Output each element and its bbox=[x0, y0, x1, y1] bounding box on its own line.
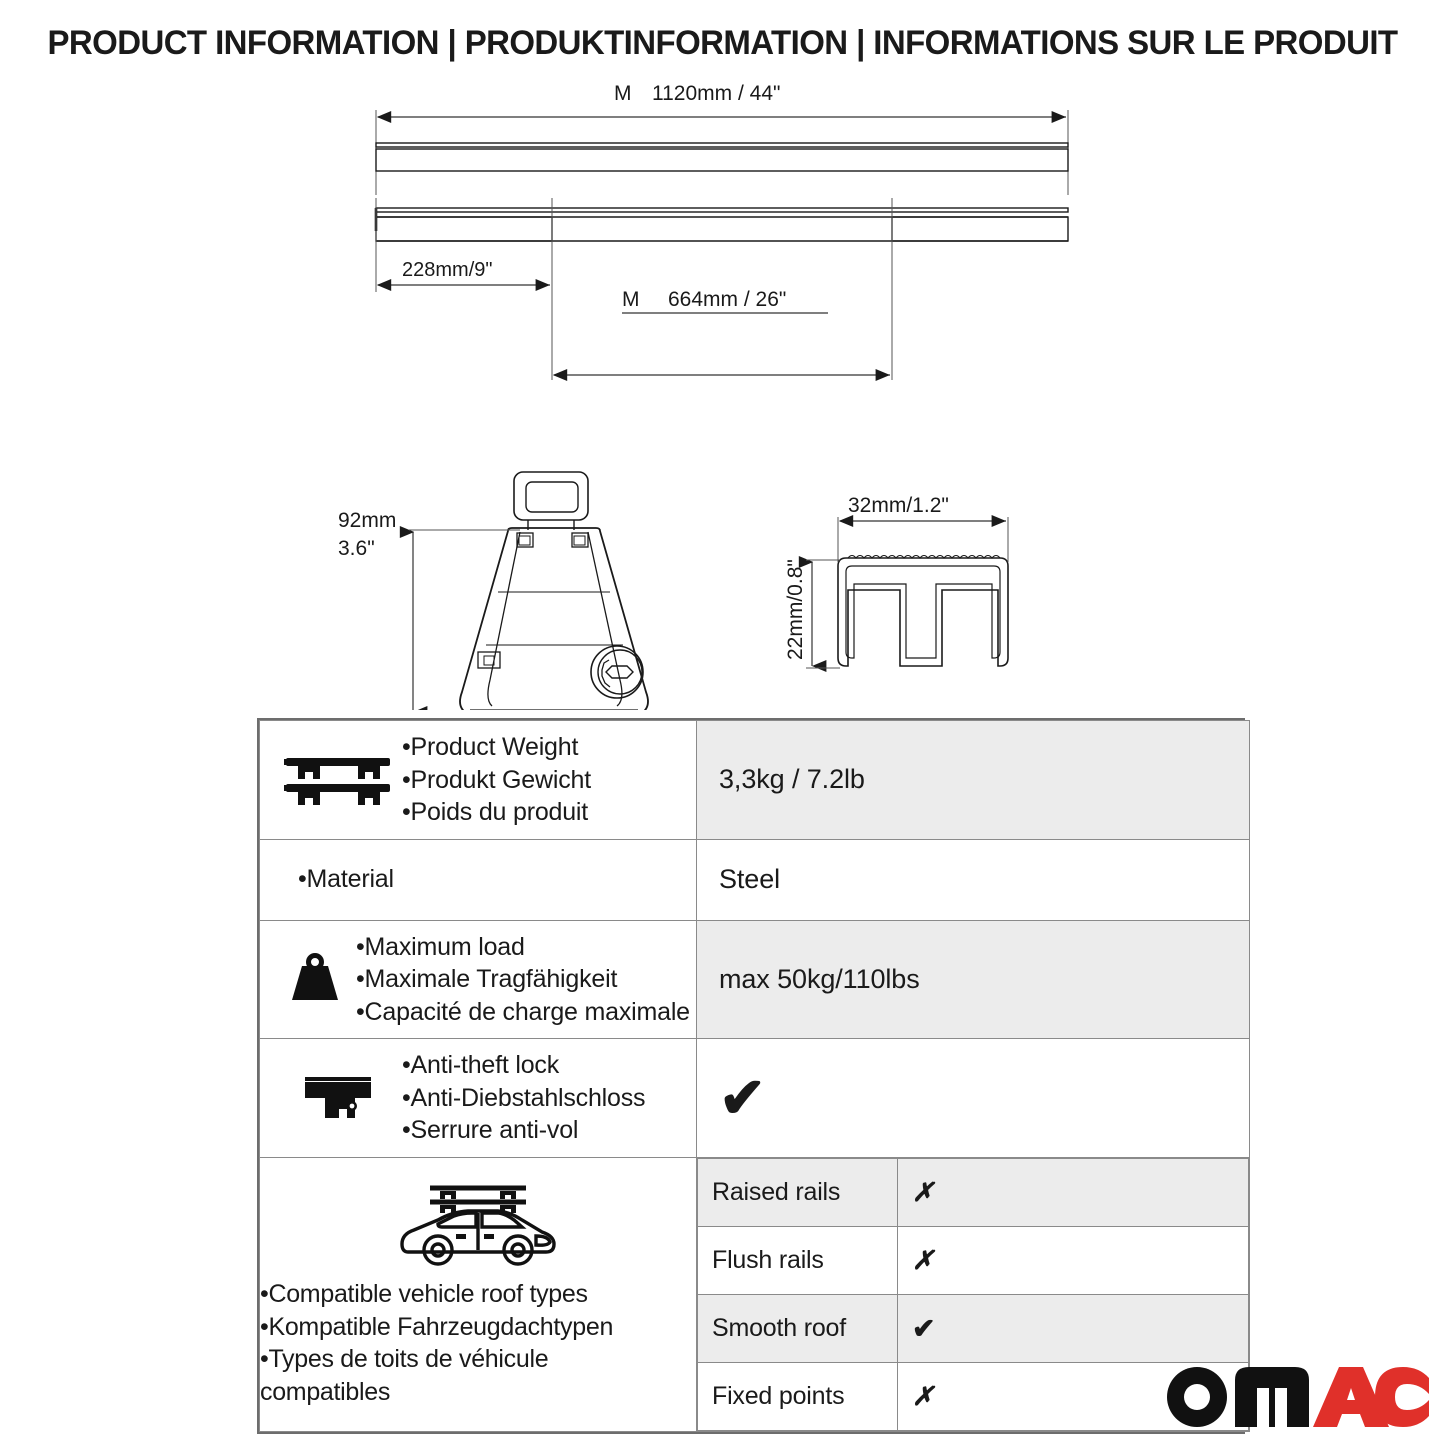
roof-type-name: Raised rails bbox=[698, 1158, 898, 1226]
dim-bar-length: 1120mm / 44" bbox=[652, 82, 780, 105]
roof-type-row: Flush rails ✗ bbox=[698, 1226, 1249, 1294]
product-information-page: PRODUCT INFORMATION | PRODUKTINFORMATION… bbox=[0, 0, 1445, 1445]
label-line: •Product Weight bbox=[402, 731, 591, 764]
label-line: •Anti-theft lock bbox=[402, 1049, 645, 1082]
table-row: •Anti-theft lock •Anti-Diebstahlschloss … bbox=[260, 1039, 1250, 1158]
table-row: •Maximum load •Maximale Tragfähigkeit •C… bbox=[260, 920, 1250, 1039]
omac-logo bbox=[1163, 1367, 1431, 1427]
label-line: •Poids du produit bbox=[402, 796, 591, 829]
roof-type-mark: ✔ bbox=[912, 1313, 935, 1344]
label-line: •Serrure anti-vol bbox=[402, 1114, 645, 1147]
roof-type-mark: ✗ bbox=[912, 1177, 934, 1207]
label-line: •Material bbox=[298, 863, 394, 896]
label-line: •Compatible vehicle roof types bbox=[260, 1278, 696, 1311]
table-row: •Product Weight •Produkt Gewicht •Poids … bbox=[260, 721, 1250, 840]
max-load-value: max 50kg/110lbs bbox=[697, 964, 1249, 995]
anti-theft-labels: •Anti-theft lock •Anti-Diebstahlschloss … bbox=[402, 1049, 645, 1147]
label-line: •Produkt Gewicht bbox=[402, 764, 591, 797]
label-line: •Maximum load bbox=[356, 931, 690, 964]
roof-type-mark: ✗ bbox=[912, 1381, 934, 1411]
product-weight-value-cell: 3,3kg / 7.2lb bbox=[697, 721, 1250, 840]
product-weight-labels: •Product Weight •Produkt Gewicht •Poids … bbox=[402, 731, 591, 829]
max-load-value-cell: max 50kg/110lbs bbox=[697, 920, 1250, 1039]
roof-type-name: Fixed points bbox=[698, 1362, 898, 1430]
anti-theft-label-cell: •Anti-theft lock •Anti-Diebstahlschloss … bbox=[260, 1039, 697, 1158]
material-value-cell: Steel bbox=[697, 839, 1250, 920]
roof-type-name: Flush rails bbox=[698, 1226, 898, 1294]
dim-end-offset: 228mm/9" bbox=[402, 259, 492, 281]
lock-icon bbox=[274, 1073, 402, 1123]
max-load-labels: •Maximum load •Maximale Tragfähigkeit •C… bbox=[356, 931, 690, 1029]
product-weight-label-cell: •Product Weight •Produkt Gewicht •Poids … bbox=[260, 721, 697, 840]
label-line: •Types de toits de véhicule bbox=[260, 1343, 696, 1376]
dim-foot-height-in: 3.6" bbox=[338, 537, 375, 560]
table-row: •Compatible vehicle roof types •Kompatib… bbox=[260, 1157, 1250, 1431]
specification-table: •Product Weight •Produkt Gewicht •Poids … bbox=[257, 718, 1245, 1434]
table-row: •Material Steel bbox=[260, 839, 1250, 920]
weight-icon bbox=[274, 948, 356, 1010]
max-load-label-cell: •Maximum load •Maximale Tragfähigkeit •C… bbox=[260, 920, 697, 1039]
material-label-cell: •Material bbox=[260, 839, 697, 920]
page-title: PRODUCT INFORMATION | PRODUKTINFORMATION… bbox=[22, 24, 1424, 63]
label-line: compatibles bbox=[260, 1376, 696, 1409]
roof-type-mark: ✗ bbox=[912, 1245, 934, 1275]
anti-theft-checkmark: ✔ bbox=[697, 1070, 1249, 1126]
technical-drawing: M 1120mm / 44" 228mm/9" M 664mm / 26" 92… bbox=[0, 80, 1445, 710]
label-line: •Anti-Diebstahlschloss bbox=[402, 1082, 645, 1115]
dim-foot-height-mm: 92mm bbox=[338, 509, 396, 532]
dim-bar-length-prefix: M bbox=[614, 82, 632, 105]
car-with-roof-rack-icon bbox=[260, 1180, 696, 1272]
label-line: •Capacité de charge maximale bbox=[356, 996, 690, 1029]
label-line: •Kompatible Fahrzeugdachtypen bbox=[260, 1311, 696, 1344]
roof-type-name: Smooth roof bbox=[698, 1294, 898, 1362]
material-labels: •Material bbox=[274, 863, 394, 896]
roof-types-label-cell: •Compatible vehicle roof types •Kompatib… bbox=[260, 1157, 697, 1431]
crossbar-pair-icon bbox=[274, 754, 402, 806]
roof-type-row: Raised rails ✗ bbox=[698, 1158, 1249, 1226]
anti-theft-value-cell: ✔ bbox=[697, 1039, 1250, 1158]
label-line: •Maximale Tragfähigkeit bbox=[356, 963, 690, 996]
roof-type-row: Smooth roof ✔ bbox=[698, 1294, 1249, 1362]
roof-types-labels: •Compatible vehicle roof types •Kompatib… bbox=[260, 1278, 696, 1408]
dim-span: 664mm / 26" bbox=[668, 288, 786, 311]
material-value: Steel bbox=[697, 864, 1249, 895]
dim-profile-width: 32mm/1.2" bbox=[848, 494, 949, 517]
dim-span-prefix: M bbox=[622, 288, 640, 311]
dim-profile-height: 22mm/0.8" bbox=[784, 559, 807, 660]
product-weight-value: 3,3kg / 7.2lb bbox=[697, 764, 1249, 795]
